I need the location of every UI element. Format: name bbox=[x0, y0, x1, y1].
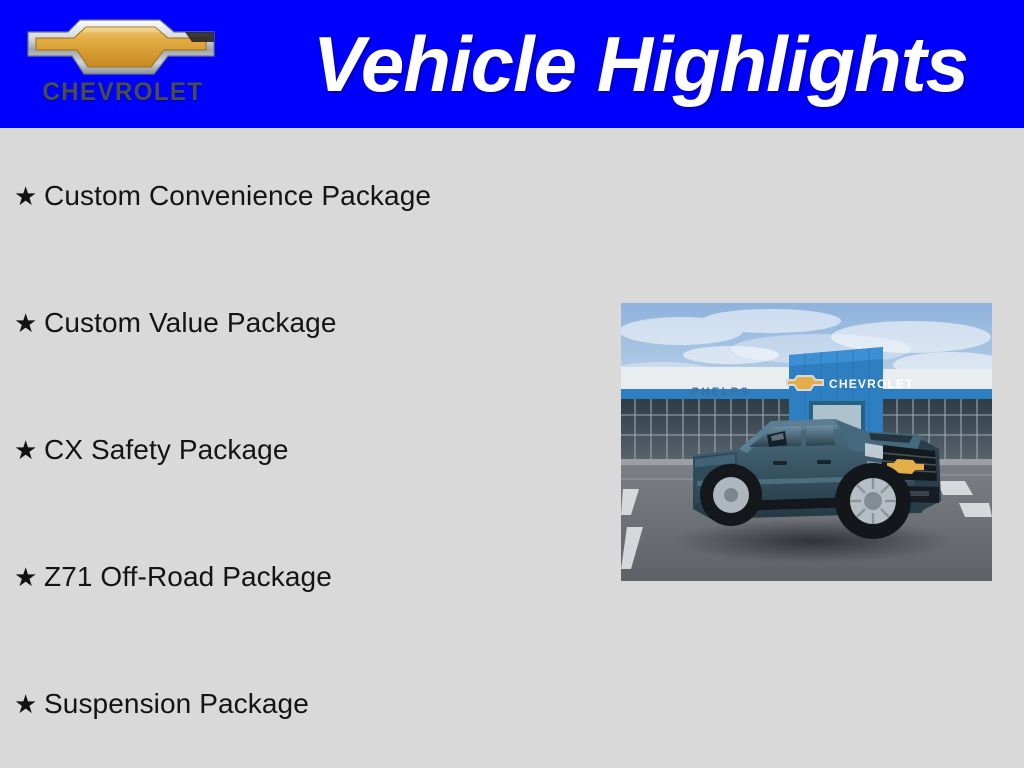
list-item: ★ Custom Value Package bbox=[14, 303, 337, 343]
list-item: ★ Z71 Off-Road Package bbox=[14, 557, 332, 597]
highlight-label: Suspension Package bbox=[44, 688, 309, 720]
list-item: ★ CX Safety Package bbox=[14, 430, 289, 470]
chevrolet-logo: CHEVROLET bbox=[22, 14, 218, 114]
star-bullet-icon: ★ bbox=[14, 435, 44, 465]
dealership-name-sign: PHELPS bbox=[692, 386, 750, 398]
highlight-label: Custom Convenience Package bbox=[44, 180, 431, 212]
highlight-label: CX Safety Package bbox=[44, 434, 289, 466]
vehicle-photo: PHELPS bbox=[621, 303, 992, 581]
list-item: ★ Custom Convenience Package bbox=[14, 176, 431, 216]
star-bullet-icon: ★ bbox=[14, 689, 44, 719]
highlight-label: Z71 Off-Road Package bbox=[44, 561, 332, 593]
chevrolet-bowtie-icon bbox=[22, 16, 218, 78]
chevrolet-wordmark: CHEVROLET bbox=[32, 78, 214, 106]
dealership-brand-sign: CHEVROLET bbox=[829, 377, 914, 391]
list-item: ★ Suspension Package bbox=[14, 684, 309, 724]
content-area: ★ Custom Convenience Package ★ Custom Va… bbox=[0, 128, 1024, 768]
highlight-label: Custom Value Package bbox=[44, 307, 337, 339]
star-bullet-icon: ★ bbox=[14, 308, 44, 338]
page-title: Vehicle Highlights bbox=[240, 0, 1000, 128]
header-bar: CHEVROLET Vehicle Highlights bbox=[0, 0, 1024, 128]
star-bullet-icon: ★ bbox=[14, 181, 44, 211]
star-bullet-icon: ★ bbox=[14, 562, 44, 592]
